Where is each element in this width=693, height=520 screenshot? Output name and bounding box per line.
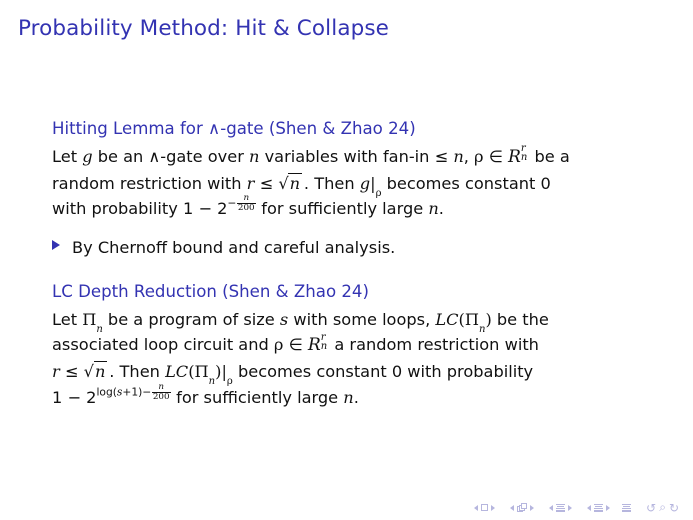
text-frag: . xyxy=(439,199,444,218)
block2-line-4: 1 − 2log(s+1)−n200 for sufficiently larg… xyxy=(52,385,637,411)
nav-document-group[interactable] xyxy=(622,504,631,512)
math-sub-n: n xyxy=(96,324,102,335)
block-hitting-lemma: Hitting Lemma for ∧-gate (Shen & Zhao 24… xyxy=(52,118,652,260)
text-frag: be a xyxy=(529,147,569,166)
next-frame-icon[interactable] xyxy=(530,505,534,511)
block2-line-3: r ≤ √n. Then LC(Πn)|ρ becomes constant 0… xyxy=(52,359,637,385)
text-frag: , xyxy=(464,147,474,166)
prev-section-icon[interactable] xyxy=(587,505,591,511)
text-frag: be the xyxy=(492,310,549,329)
itemize-list: By Chernoff bound and careful analysis. xyxy=(52,236,652,260)
beamer-navigation-bar[interactable]: ↺ ⌕ ↻ xyxy=(471,500,681,515)
math-cal-R: R xyxy=(308,335,321,355)
triangle-bullet-icon xyxy=(52,240,60,250)
block2-line-1: Let Πn be a program of size s with some … xyxy=(52,307,637,333)
list-item-label: By Chernoff bound and careful analysis. xyxy=(72,236,395,260)
math-sqrt: √n xyxy=(84,359,110,385)
math-r: r xyxy=(247,174,255,193)
text-frag: . Then xyxy=(304,174,360,193)
text-frag: be a program of size xyxy=(103,310,280,329)
text-frag: be an ∧-gate over xyxy=(93,147,249,166)
block-spacer xyxy=(52,260,652,281)
math-restriction: |ρ xyxy=(221,359,232,385)
math-Pi: Π xyxy=(82,310,96,329)
math-leq: ≤ xyxy=(65,362,79,381)
nav-frame-group[interactable] xyxy=(507,503,537,512)
list-item: By Chernoff bound and careful analysis. xyxy=(52,236,652,260)
block-body-hitting-lemma: Let g be an ∧-gate over n variables with… xyxy=(52,144,637,222)
text-frag: associated loop circuit and xyxy=(52,335,274,354)
slide-square-icon[interactable] xyxy=(481,504,488,511)
text-frag: . xyxy=(354,388,359,407)
math-restriction: |ρ xyxy=(370,171,381,197)
block2-line-2: associated loop circuit and ρ ∈ Rrn a ra… xyxy=(52,332,637,359)
math-g: g xyxy=(360,174,370,193)
math-n: n xyxy=(428,199,438,218)
text-frag: variables with fan-in xyxy=(259,147,434,166)
nav-slide-group[interactable] xyxy=(471,504,498,511)
frame-title: Probability Method: Hit & Collapse xyxy=(18,17,389,42)
math-fraction: n200 xyxy=(237,194,256,213)
math-LC: LC xyxy=(165,362,188,381)
prev-slide-icon[interactable] xyxy=(474,505,478,511)
subsection-lines-icon[interactable] xyxy=(556,504,565,512)
math-n: n xyxy=(343,388,353,407)
block-body-lc-depth-reduction: Let Πn be a program of size s with some … xyxy=(52,307,637,411)
slide-stack-icon[interactable] xyxy=(517,503,527,512)
math-s: s xyxy=(280,310,288,329)
back-circle-icon[interactable]: ↺ xyxy=(646,501,657,515)
math-in: ∈ xyxy=(489,147,503,166)
text-frag: . Then xyxy=(109,362,165,381)
slide: Probability Method: Hit & Collapse Hitti… xyxy=(0,0,693,520)
math-exponent: log(s+1)−n200 xyxy=(96,383,171,402)
math-r: r xyxy=(52,362,60,381)
search-circle-icon[interactable]: ⌕ xyxy=(659,500,667,515)
math-leq: ≤ xyxy=(435,147,449,166)
slide-body: Hitting Lemma for ∧-gate (Shen & Zhao 24… xyxy=(52,118,652,411)
text-frag: with some loops, xyxy=(288,310,435,329)
block-title-lc-depth-reduction: LC Depth Reduction (Shen & Zhao 24) xyxy=(52,281,652,303)
text-frag: Let xyxy=(52,310,82,329)
math-in: ∈ xyxy=(289,335,303,354)
next-section-icon[interactable] xyxy=(606,505,610,511)
math-exponent: −n200 xyxy=(227,194,256,213)
text-frag: becomes constant 0 xyxy=(381,174,550,193)
block1-line-3: with probability 1 − 2−n200 for sufficie… xyxy=(52,196,637,222)
math-sqrt: √n xyxy=(278,171,304,197)
math-fraction: n200 xyxy=(152,383,171,402)
text-frag: for sufficiently large xyxy=(171,388,343,407)
text-frag: with probability 1 − 2 xyxy=(52,199,227,218)
nav-subsection-group[interactable] xyxy=(546,504,575,512)
math-LC: LC xyxy=(435,310,458,329)
block1-line-1: Let g be an ∧-gate over n variables with… xyxy=(52,144,637,171)
math-sup-sub: rn xyxy=(321,334,329,350)
next-subsection-icon[interactable] xyxy=(568,505,572,511)
math-rho: ρ xyxy=(274,335,284,354)
prev-frame-icon[interactable] xyxy=(510,505,514,511)
text-frag: becomes constant 0 with probability xyxy=(233,362,533,381)
block-title-hitting-lemma: Hitting Lemma for ∧-gate (Shen & Zhao 24… xyxy=(52,118,652,140)
text-frag: for sufficiently large xyxy=(256,199,428,218)
forward-circle-icon[interactable]: ↻ xyxy=(669,501,680,515)
math-n: n xyxy=(453,147,463,166)
math-sub-n: n xyxy=(479,324,485,335)
text-frag: 1 − 2 xyxy=(52,388,96,407)
next-slide-icon[interactable] xyxy=(491,505,495,511)
block1-line-2: random restriction with r ≤ √n. Then g|ρ… xyxy=(52,171,637,197)
text-frag: random restriction with xyxy=(52,174,247,193)
text-frag: a random restriction with xyxy=(329,335,539,354)
nav-round-group[interactable]: ↺ ⌕ ↻ xyxy=(645,500,681,515)
math-Pi: Π xyxy=(465,310,479,329)
math-cal-R: R xyxy=(508,147,521,167)
nav-section-group[interactable] xyxy=(584,504,613,512)
math-g: g xyxy=(82,147,92,166)
math-rho: ρ xyxy=(474,147,484,166)
math-leq: ≤ xyxy=(260,174,274,193)
math-sub-n: n xyxy=(209,376,215,387)
text-frag: Let xyxy=(52,147,82,166)
block-lc-depth-reduction: LC Depth Reduction (Shen & Zhao 24) Let … xyxy=(52,281,652,410)
section-lines-icon[interactable] xyxy=(594,504,603,512)
math-sup-sub: rn xyxy=(521,145,529,161)
document-lines-icon[interactable] xyxy=(622,504,631,512)
math-n: n xyxy=(249,147,259,166)
prev-subsection-icon[interactable] xyxy=(549,505,553,511)
math-Pi: Π xyxy=(195,362,209,381)
